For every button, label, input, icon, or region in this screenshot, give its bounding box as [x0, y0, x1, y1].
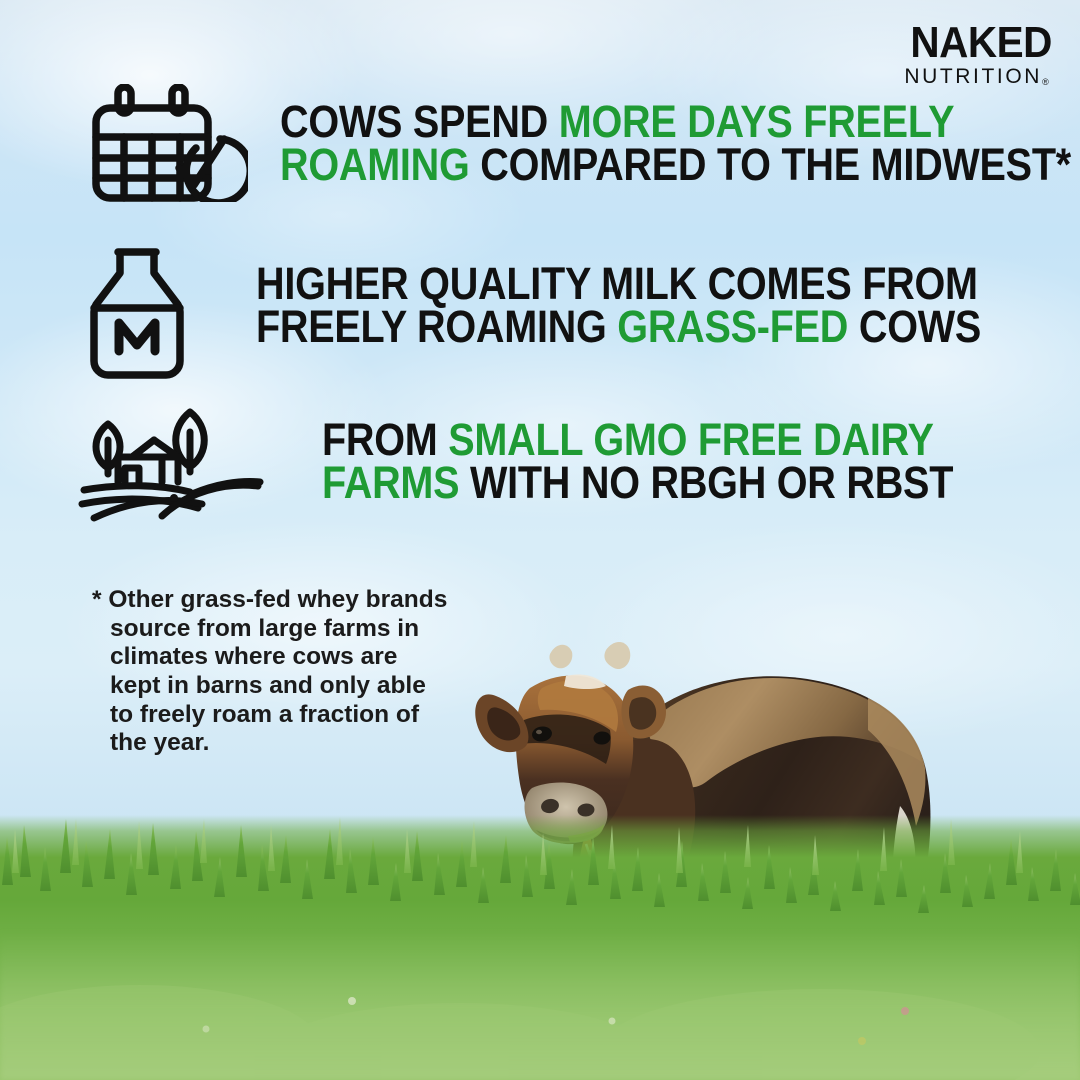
- feature-row-farm: FROM SMALL GMO FREE DAIRY FARMS WITH NO …: [70, 404, 1039, 524]
- calendar-check-icon: [78, 84, 248, 202]
- headline-black-text: COWS: [848, 301, 981, 352]
- headline-line-1: COWS SPEND MORE DAYS FREELY: [280, 100, 1071, 143]
- feature-headline-1: COWS SPEND MORE DAYS FREELY ROAMING COMP…: [280, 100, 1071, 186]
- headline-black-text: COMPARED TO THE MIDWEST*: [470, 139, 1071, 190]
- feature-row-calendar: COWS SPEND MORE DAYS FREELY ROAMING COMP…: [78, 84, 1080, 202]
- feature-row-milk: HIGHER QUALITY MILK COMES FROM FREELY RO…: [78, 246, 1080, 381]
- milk-bottle-icon: [78, 246, 196, 381]
- brand-name: NAKED: [910, 22, 1052, 64]
- headline-green-text: GRASS-FED: [617, 301, 848, 352]
- headline-black-text: WITH NO RBGH OR RBST: [459, 457, 953, 508]
- brand-logo: NAKED NUTRITION®: [898, 22, 1052, 89]
- grass-foreground-blur: [0, 930, 1080, 1080]
- headline-green-text: FARMS: [322, 457, 459, 508]
- headline-line-1: HIGHER QUALITY MILK COMES FROM: [256, 262, 981, 305]
- feature-headline-2: HIGHER QUALITY MILK COMES FROM FREELY RO…: [256, 262, 981, 348]
- footnote-marker: *: [92, 586, 102, 613]
- footnote-text: Other grass-fed whey brands source from …: [108, 586, 447, 756]
- infographic-canvas: NAKED NUTRITION®: [0, 0, 1080, 1080]
- feature-headline-3: FROM SMALL GMO FREE DAIRY FARMS WITH NO …: [322, 418, 953, 504]
- footnote-disclaimer: * Other grass-fed whey brands source fro…: [92, 586, 452, 758]
- headline-line-1: FROM SMALL GMO FREE DAIRY: [322, 418, 953, 461]
- headline-line-2: FREELY ROAMING GRASS-FED COWS: [256, 305, 981, 348]
- headline-line-2: ROAMING COMPARED TO THE MIDWEST*: [280, 143, 1071, 186]
- farm-icon: [70, 404, 270, 524]
- headline-green-text: ROAMING: [280, 139, 470, 190]
- headline-line-2: FARMS WITH NO RBGH OR RBST: [322, 461, 953, 504]
- headline-black-text: FREELY ROAMING: [256, 301, 617, 352]
